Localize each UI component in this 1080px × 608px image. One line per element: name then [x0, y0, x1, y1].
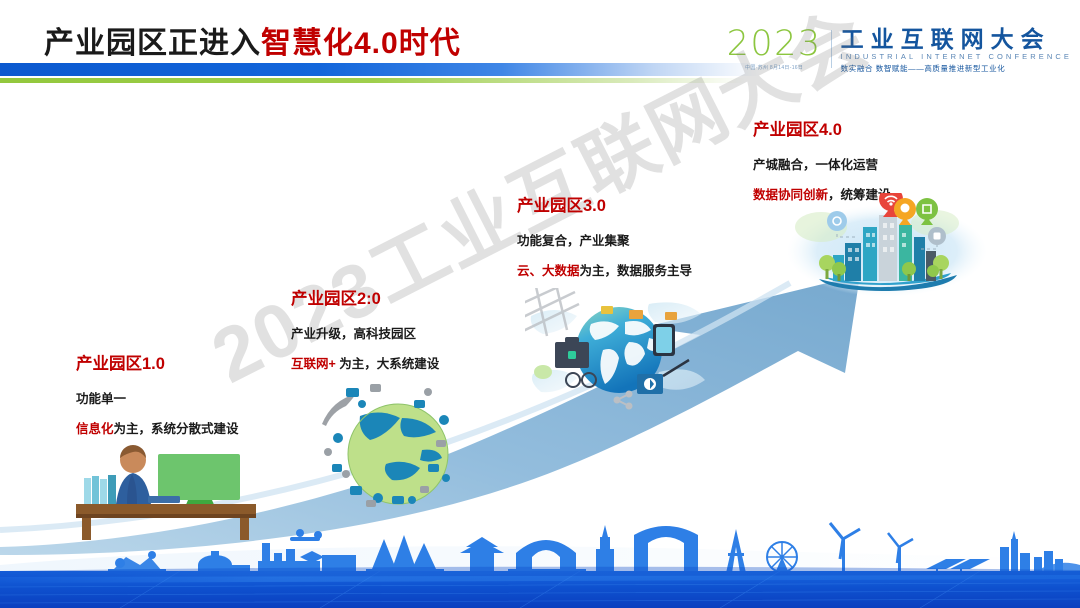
stage-1-line-2-rest: 为主，系统分散式建设 [114, 422, 239, 436]
stage-1-line-1: 功能单一 [76, 388, 239, 407]
logo-year: 2023 [727, 27, 822, 61]
stage-2-text: 产业园区2:0 产业升级，高科技园区 互联网+ 为主，大系统建设 [291, 285, 439, 383]
logo-name-en: INDUSTRIAL INTERNET CONFERENCE [841, 52, 1072, 61]
logo-name-block: 工业互联网大会 INDUSTRIAL INTERNET CONFERENCE 数… [832, 27, 1072, 74]
stage-3-line-2: 云、大数据为主，数据服务主导 [517, 260, 692, 279]
page-title: 产业园区正进入智慧化4.0时代 [44, 18, 461, 62]
stage-1-text: 产业园区1.0 功能单一 信息化为主，系统分散式建设 [76, 350, 239, 448]
stage-3-text: 产业园区3.0 功能复合，产业集聚 云、大数据为主，数据服务主导 [517, 192, 692, 290]
globe-business-devices-icon [525, 288, 710, 413]
stage-3-title: 产业园区3.0 [517, 192, 692, 216]
stage-1-title: 产业园区1.0 [76, 350, 239, 374]
stage-3-line-2-rest: 为主，数据服务主导 [580, 264, 693, 278]
logo-name-cn: 工业互联网大会 [841, 27, 1072, 51]
stage-2-title: 产业园区2:0 [291, 285, 439, 309]
conference-logo: 2023 中国·苏州 8月14日-16日 工业互联网大会 INDUSTRIAL … [727, 27, 1072, 74]
page-title-highlight: 智慧化4.0时代 [261, 27, 461, 60]
header-rule-blue [0, 63, 760, 76]
stage-2-line-2: 互联网+ 为主，大系统建设 [291, 353, 439, 372]
stage-2-line-1: 产业升级，高科技园区 [291, 323, 439, 342]
stage-3-line-2-red: 云、大数据 [517, 264, 580, 278]
logo-year-block: 2023 中国·苏州 8月14日-16日 [727, 27, 831, 71]
stage-2-line-2-red: 互联网+ [291, 357, 336, 371]
stage-4-title: 产业园区4.0 [753, 116, 891, 140]
logo-slogan: 数实融合 数智赋能——高质量推进新型工业化 [841, 63, 1072, 74]
logo-year-subtitle: 中国·苏州 8月14日-16日 [727, 64, 822, 71]
stage-3-line-1: 功能复合，产业集聚 [517, 230, 692, 249]
smart-city-iot-icon [785, 193, 990, 305]
page-title-plain: 产业园区正进入 [44, 27, 261, 60]
stage-2-line-2-rest: 为主，大系统建设 [336, 357, 439, 371]
stage-1-line-2: 信息化为主，系统分散式建设 [76, 418, 239, 437]
header-rule-green [0, 78, 745, 83]
stage-4-line-1: 产城融合，一体化运营 [753, 154, 891, 173]
stage-1-line-2-red: 信息化 [76, 422, 114, 436]
industrial-city-skyline-icon [0, 513, 1080, 608]
slide-canvas: 产业园区正进入智慧化4.0时代 2023 中国·苏州 8月14日-16日 工业互… [0, 0, 1080, 608]
globe-tech-icons-icon [316, 378, 481, 518]
